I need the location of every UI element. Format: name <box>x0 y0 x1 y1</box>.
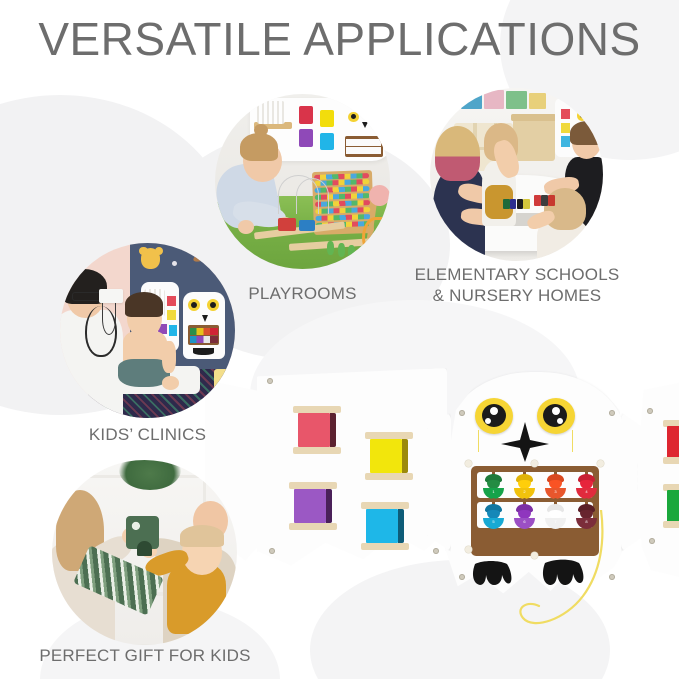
cup-number-label: 1 <box>483 489 504 494</box>
scene-playroom <box>215 94 390 269</box>
counting-row-mini <box>190 336 218 343</box>
cup-number-label: 3 <box>545 489 566 494</box>
photo-elementary-schools[interactable] <box>430 88 603 261</box>
teddy-ear <box>139 247 148 256</box>
toy-train <box>299 220 315 231</box>
page-title: VERSATILE APPLICATIONS <box>0 12 679 66</box>
owl-hanging-cord <box>505 510 615 640</box>
board-swatch <box>169 325 178 336</box>
toy-ball <box>369 185 390 206</box>
card-caption-elementary-schools: ELEMENTARY SCHOOLS & NURSERY HOMES <box>402 264 632 306</box>
doctor-glasses <box>72 292 102 301</box>
owl-beak-mini <box>362 122 368 128</box>
toy-peg <box>338 243 345 257</box>
wall-swatch <box>561 136 570 146</box>
peg[interactable] <box>465 460 472 467</box>
cup-number-label: 4 <box>576 489 597 494</box>
board-swatch <box>167 310 176 321</box>
table-card <box>503 199 510 209</box>
counting-cup-5[interactable]: 5 <box>483 518 504 529</box>
book <box>484 90 505 109</box>
acorn-3[interactable] <box>547 474 564 489</box>
wall-stripes <box>257 101 285 124</box>
toddler-hair <box>125 292 164 317</box>
table-card <box>534 195 541 205</box>
boy-hair <box>570 121 603 145</box>
star-decal <box>172 261 177 266</box>
toddler-arm <box>162 341 176 373</box>
screw <box>649 538 655 544</box>
block-purple <box>299 129 313 147</box>
scene-clinic <box>60 243 235 418</box>
cabinet-top <box>511 114 556 121</box>
acorn-2[interactable] <box>516 474 533 489</box>
photo-playrooms[interactable] <box>215 94 390 269</box>
book <box>461 91 482 108</box>
poster-canvas: VERSATILE APPLICATIONS <box>0 0 679 679</box>
owl-beak-mini <box>202 315 208 322</box>
owl-pupil-mini <box>191 302 197 308</box>
counting-board-mini-inner <box>346 139 381 146</box>
peg[interactable] <box>597 460 604 467</box>
toy-train <box>278 218 296 230</box>
product-busy-board: 12345678 <box>205 360 679 660</box>
child-bun <box>254 124 268 136</box>
child-hand <box>238 220 254 234</box>
owl-feet-mini <box>193 348 214 355</box>
cup-number-label: 2 <box>514 489 535 494</box>
photo-kids-clinics[interactable] <box>60 243 235 418</box>
counting-board-mini-inner <box>346 147 381 154</box>
board-swatch <box>167 296 176 307</box>
toy-arc <box>362 217 390 258</box>
child-hair <box>240 133 279 161</box>
book <box>529 93 546 109</box>
toddler-foot <box>162 376 180 390</box>
block-red <box>299 106 313 124</box>
wall-swatch <box>561 123 570 133</box>
toy-peg <box>348 245 355 259</box>
table-card <box>510 199 517 209</box>
wall-swatch <box>561 109 570 119</box>
book <box>506 91 527 108</box>
card-caption-perfect-gift: PERFECT GIFT FOR KIDS <box>20 645 270 666</box>
acorn-5[interactable] <box>485 504 502 519</box>
table-card <box>523 199 530 209</box>
product-panel-right <box>637 382 679 578</box>
block-blue <box>320 133 334 151</box>
wall-medical-unit <box>99 289 124 303</box>
scene-gift <box>52 460 237 645</box>
cabinet <box>513 116 555 161</box>
card-caption-kids-clinics: KIDS’ CLINICS <box>45 424 250 445</box>
teacher-hair <box>435 126 480 181</box>
bead-maze <box>296 178 330 214</box>
gift-bow <box>137 541 152 556</box>
toy-peg <box>327 241 334 255</box>
table-card <box>541 195 548 205</box>
cup-number-label: 5 <box>483 519 504 524</box>
acorn-4[interactable] <box>578 474 595 489</box>
table-card <box>517 199 524 209</box>
screw <box>647 408 653 414</box>
peg[interactable] <box>465 546 472 553</box>
peg[interactable] <box>531 460 538 467</box>
table-card <box>548 195 555 205</box>
counting-row-mini <box>190 328 218 335</box>
acorn-1[interactable] <box>485 474 502 489</box>
owl-pupil-mini <box>593 113 598 118</box>
stool <box>214 369 235 394</box>
owl-pupil-mini <box>351 114 356 119</box>
photo-perfect-gift[interactable] <box>52 460 237 645</box>
color-card-red[interactable] <box>665 420 679 464</box>
baby-hair <box>180 525 224 547</box>
scene-classroom <box>430 88 603 261</box>
color-card-green[interactable] <box>665 484 679 528</box>
block-yellow <box>320 110 334 128</box>
